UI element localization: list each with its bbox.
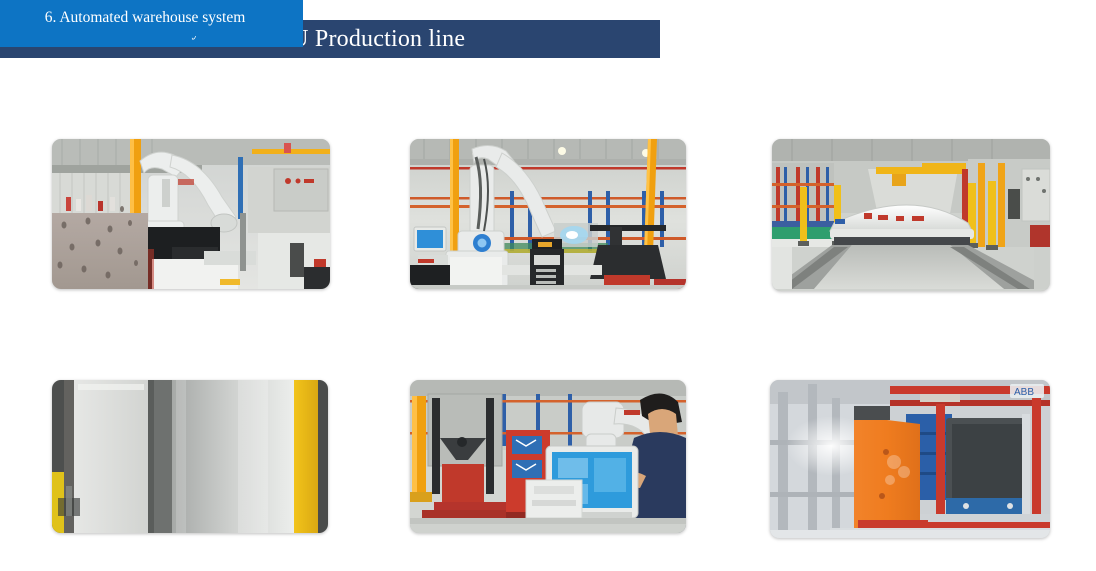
caption-6-line1: 6. Automated warehouse system: [45, 8, 246, 28]
photo-abb-stud-welding-robot: [52, 139, 330, 289]
photo-helium-leak-testing-system: [52, 380, 328, 533]
card-6: 6. Automated warehouse system: [0, 0, 290, 36]
svg-text:ABB: ABB: [1014, 387, 1034, 398]
photo-automatic-welding-box-assembly: [410, 380, 686, 533]
caption-6: 6. Automated warehouse system: [0, 0, 290, 36]
slide-canvas: Successful Case - Smart RMU Production l…: [0, 0, 1096, 571]
photo-automated-warehouse-system: ABB: [770, 380, 1050, 538]
photo-abb-laser-welding-robot: [410, 139, 686, 289]
photo-rgv-transfer-system: [772, 139, 1050, 291]
